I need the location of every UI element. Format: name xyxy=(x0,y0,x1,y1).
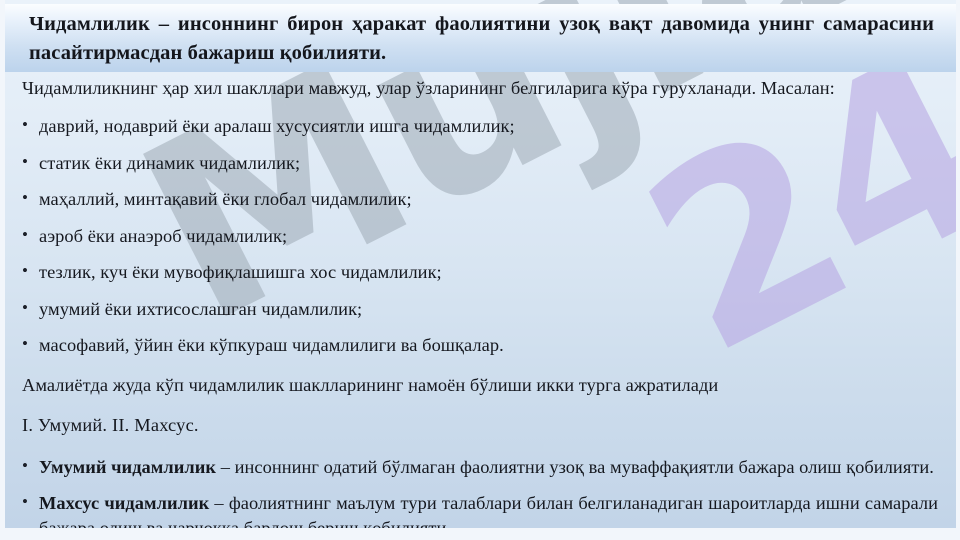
list-item-label: тезлик, куч ёки мувофиқлашишга хос чидам… xyxy=(39,260,938,284)
slide-content-area: Mujiat 24 Чидамлилик – инсоннинг бирон ҳ… xyxy=(5,0,956,528)
list-item-label: маҳаллий, минтақавий ёки глобал чидамлил… xyxy=(39,187,938,211)
list-item: • тезлик, куч ёки мувофиқлашишга хос чид… xyxy=(5,260,956,284)
list-item-label: статик ёки динамик чидамлилик; xyxy=(39,151,938,175)
bullet-icon: • xyxy=(22,491,39,514)
intro-paragraph: Чидамлиликнинг ҳар хил шакллари мавжуд, … xyxy=(5,76,956,102)
definition-text-special: Махсус чидамлилик – фаолиятнинг маълум т… xyxy=(39,491,938,528)
slide-title: Чидамлилик – инсоннинг бирон ҳаракат фао… xyxy=(29,10,934,68)
list-item-label: масофавий, ўйин ёки кўпкураш чидамлилиги… xyxy=(39,333,938,357)
list-item: • масофавий, ўйин ёки кўпкураш чидамлили… xyxy=(5,333,956,357)
bullet-icon: • xyxy=(22,151,39,174)
definition-term-special: Махсус чидамлилик xyxy=(39,493,209,513)
definition-item-special: • Махсус чидамлилик – фаолиятнинг маълум… xyxy=(5,491,956,528)
slide-title-band: Чидамлилик – инсоннинг бирон ҳаракат фао… xyxy=(5,4,956,72)
bullet-icon: • xyxy=(22,114,39,137)
definition-item-general: • Умумий чидамлилик – инсоннинг одатий б… xyxy=(5,455,956,479)
list-item: • маҳаллий, минтақавий ёки глобал чидамл… xyxy=(5,187,956,211)
definition-text-general: Умумий чидамлилик – инсоннинг одатий бўл… xyxy=(39,455,938,479)
bullet-icon: • xyxy=(22,297,39,320)
bullet-icon: • xyxy=(22,187,39,210)
slide-body: Чидамлиликнинг ҳар хил шакллари мавжуд, … xyxy=(5,76,956,528)
presentation-slide: Mujiat 24 Чидамлилик – инсоннинг бирон ҳ… xyxy=(0,0,960,540)
list-item-label: даврий, нодаврий ёки аралаш хусусиятли и… xyxy=(39,114,938,138)
bullet-icon: • xyxy=(22,333,39,356)
list-item: • умумий ёки ихтисослашган чидамлилик; xyxy=(5,297,956,321)
practice-paragraph: Амалиётда жуда кўп чидамлилик шаклларини… xyxy=(5,373,956,397)
list-item-label: умумий ёки ихтисослашган чидамлилик; xyxy=(39,297,938,321)
types-paragraph: I. Умумий. II. Махсус. xyxy=(5,413,956,437)
definition-body-general: – инсоннинг одатий бўлмаган фаолиятни уз… xyxy=(216,457,934,477)
list-item-label: аэроб ёки анаэроб чидамлилик; xyxy=(39,224,938,248)
bullet-icon: • xyxy=(22,224,39,247)
definition-term-general: Умумий чидамлилик xyxy=(39,457,216,477)
list-item: • даврий, нодаврий ёки аралаш хусусиятли… xyxy=(5,114,956,138)
list-item: • статик ёки динамик чидамлилик; xyxy=(5,151,956,175)
bullet-icon: • xyxy=(22,455,39,478)
list-item: • аэроб ёки анаэроб чидамлилик; xyxy=(5,224,956,248)
bullet-icon: • xyxy=(22,260,39,283)
